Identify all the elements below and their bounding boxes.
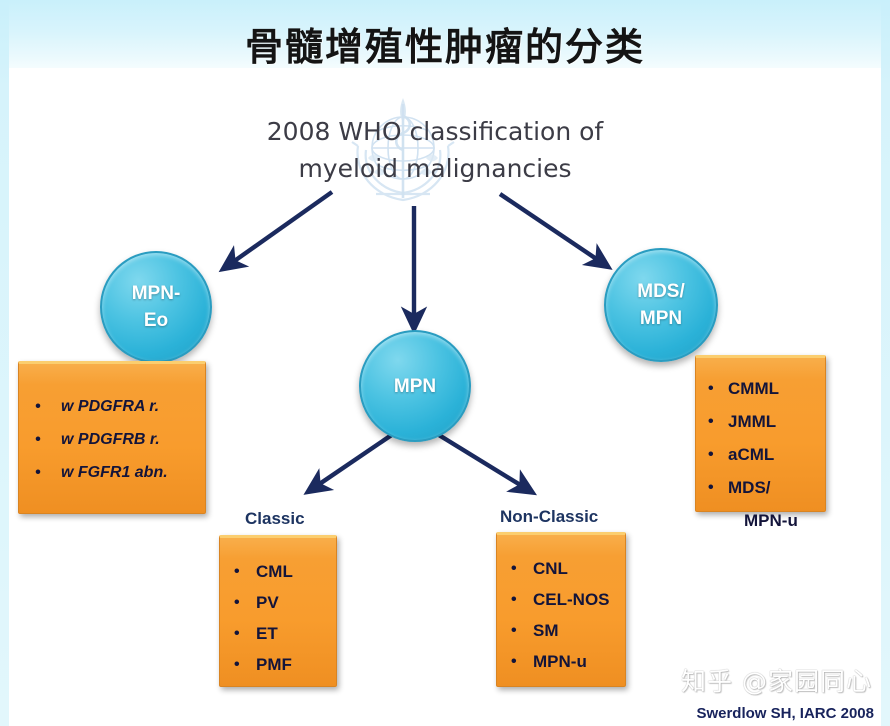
slide-right-edge-strip <box>881 0 890 726</box>
node-mpn[interactable]: MPN <box>359 330 471 442</box>
non-classic-detail-list: CNL CEL-NOS SM MPN-u <box>503 553 625 677</box>
list-item: PMF <box>226 649 336 680</box>
mds-mpn-detail-box[interactable]: CMML JMML aCML MDS/ MPN-u <box>695 355 826 512</box>
node-mds-mpn-label-line1: MDS/ <box>637 278 685 305</box>
source-citation: Swerdlow SH, IARC 2008 <box>696 705 874 722</box>
header-text-block: 2008 WHO classification of myeloid malig… <box>215 113 655 187</box>
header-line-2: myeloid malignancies <box>215 150 655 187</box>
list-item: MDS/ <box>700 471 825 504</box>
slide-canvas: 骨髓增殖性肿瘤的分类 <box>0 0 890 726</box>
zhihu-watermark: 知乎 @家园同心 <box>681 662 872 698</box>
list-item: CMML <box>700 372 825 405</box>
node-mpn-eo-label-line2: Eo <box>132 307 181 334</box>
slide-left-edge-strip <box>0 0 9 726</box>
mds-mpn-detail-list: CMML JMML aCML MDS/ MPN-u <box>700 372 825 537</box>
header-line-1: 2008 WHO classification of <box>215 113 655 150</box>
node-mpn-label: MPN <box>394 373 436 400</box>
label-non-classic: Non-Classic <box>500 507 598 527</box>
mpn-eo-detail-list: w PDGFRA r. w PDGFRB r. w FGFR1 abn. <box>27 390 205 489</box>
label-classic: Classic <box>245 509 305 529</box>
list-item: aCML <box>700 438 825 471</box>
classic-detail-box[interactable]: CML PV ET PMF <box>219 535 337 687</box>
non-classic-detail-box[interactable]: CNL CEL-NOS SM MPN-u <box>496 532 626 687</box>
list-item: CML <box>226 556 336 587</box>
list-item: w PDGFRA r. <box>27 390 205 423</box>
classic-detail-list: CML PV ET PMF <box>226 556 336 680</box>
list-item: SM <box>503 615 625 646</box>
node-mpn-eo[interactable]: MPN- Eo <box>100 251 212 363</box>
list-item: PV <box>226 587 336 618</box>
list-item: MPN-u <box>503 646 625 677</box>
node-mds-mpn[interactable]: MDS/ MPN <box>604 248 718 362</box>
list-item: CNL <box>503 553 625 584</box>
list-item: CEL-NOS <box>503 584 625 615</box>
page-title: 骨髓增殖性肿瘤的分类 <box>0 16 890 71</box>
node-mds-mpn-label-line2: MPN <box>637 305 685 332</box>
list-item: JMML <box>700 405 825 438</box>
mpn-eo-detail-box[interactable]: w PDGFRA r. w PDGFRB r. w FGFR1 abn. <box>18 361 206 514</box>
list-item: ET <box>226 618 336 649</box>
list-item: MPN-u <box>700 504 825 537</box>
node-mpn-eo-label-line1: MPN- <box>132 280 181 307</box>
list-item: w PDGFRB r. <box>27 423 205 456</box>
list-item: w FGFR1 abn. <box>27 456 205 489</box>
